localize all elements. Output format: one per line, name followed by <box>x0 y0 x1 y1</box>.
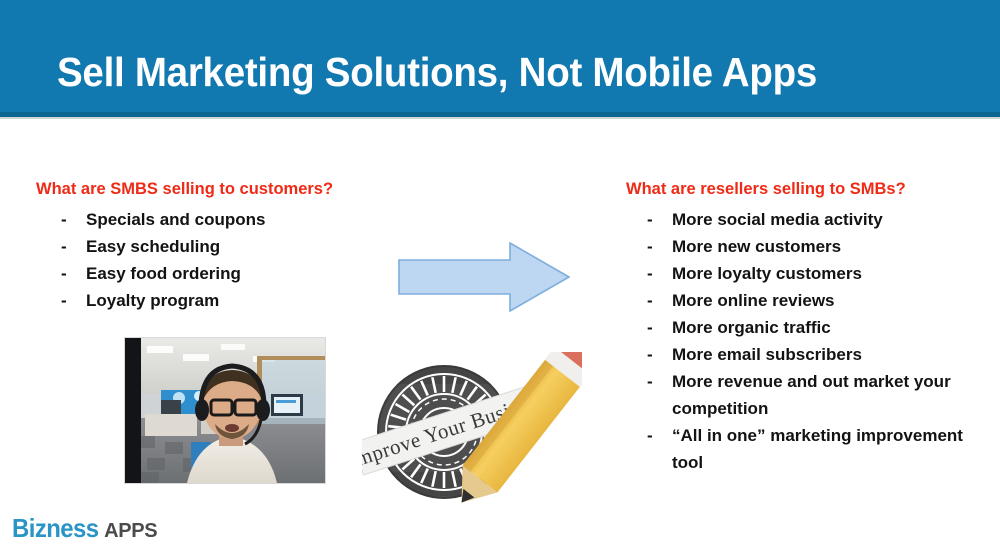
list-item: - Easy food ordering <box>60 260 390 287</box>
bullet-dash-icon: - <box>647 368 653 395</box>
title-banner-divider <box>0 117 1000 119</box>
list-item-label: Loyalty program <box>86 291 219 310</box>
list-item-label: More social media activity <box>672 210 883 229</box>
bullet-dash-icon: - <box>647 341 653 368</box>
slide-title: Sell Marketing Solutions, Not Mobile App… <box>57 48 817 96</box>
bullet-dash-icon: - <box>61 233 67 260</box>
bullet-dash-icon: - <box>647 206 653 233</box>
list-item: - More new customers <box>646 233 986 260</box>
list-item: - Specials and coupons <box>60 206 390 233</box>
list-item: - More email subscribers <box>646 341 986 368</box>
list-item-label: More revenue and out market your competi… <box>672 372 951 418</box>
list-item: - More online reviews <box>646 287 986 314</box>
list-item: - More organic traffic <box>646 314 986 341</box>
bullet-dash-icon: - <box>647 287 653 314</box>
logo-secondary-text: APPS <box>104 520 157 542</box>
list-item-label: More new customers <box>672 237 841 256</box>
presenter-webcam-photo <box>125 338 325 483</box>
improve-your-business-stamp: Improve Your Business <box>362 352 582 520</box>
list-item-label: More email subscribers <box>672 345 862 364</box>
bizness-apps-logo: BiznessAPPS <box>12 513 157 544</box>
list-item: - More revenue and out market your compe… <box>646 368 986 422</box>
list-item-label: Easy scheduling <box>86 237 220 256</box>
bullet-dash-icon: - <box>647 422 653 449</box>
left-column-bullet-list: - Specials and coupons - Easy scheduling… <box>60 206 390 314</box>
bullet-dash-icon: - <box>647 260 653 287</box>
left-column-heading: What are SMBS selling to customers? <box>36 180 333 199</box>
list-item: - “All in one” marketing improvement too… <box>646 422 986 476</box>
bullet-dash-icon: - <box>61 260 67 287</box>
webcam-frame <box>125 338 325 483</box>
list-item: - Loyalty program <box>60 287 390 314</box>
bullet-dash-icon: - <box>61 287 67 314</box>
list-item-label: Easy food ordering <box>86 264 241 283</box>
bullet-dash-icon: - <box>61 206 67 233</box>
list-item-label: “All in one” marketing improvement tool <box>672 426 963 472</box>
list-item-label: More loyalty customers <box>672 264 862 283</box>
logo-primary-text: Bizness <box>12 513 99 544</box>
list-item: - More social media activity <box>646 206 986 233</box>
list-item-label: Specials and coupons <box>86 210 266 229</box>
list-item-label: More online reviews <box>672 291 835 310</box>
list-item-label: More organic traffic <box>672 318 831 337</box>
bullet-dash-icon: - <box>647 233 653 260</box>
right-column-heading: What are resellers selling to SMBs? <box>626 180 906 199</box>
slide-canvas: Sell Marketing Solutions, Not Mobile App… <box>0 0 1000 553</box>
right-column-bullet-list: - More social media activity - More new … <box>646 206 986 476</box>
right-arrow-icon <box>398 242 570 312</box>
bullet-dash-icon: - <box>647 314 653 341</box>
list-item: - Easy scheduling <box>60 233 390 260</box>
list-item: - More loyalty customers <box>646 260 986 287</box>
